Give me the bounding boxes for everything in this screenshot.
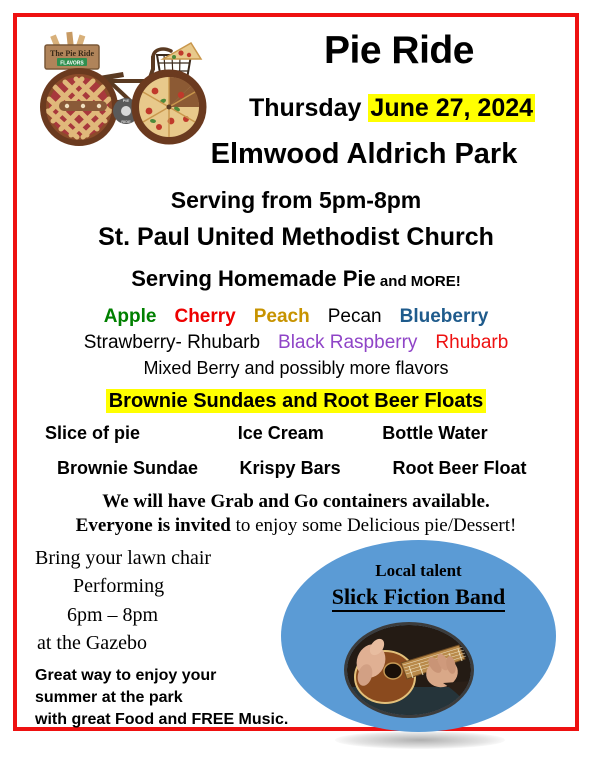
note-invite-bold: Everyone is invited — [76, 515, 231, 536]
menu-item-ice-cream: Ice Cream — [238, 424, 383, 442]
flavor-blueberry: Blueberry — [400, 306, 489, 327]
performance-venue: at the Gazebo — [31, 629, 281, 657]
menu-item-root-beer-float: Root Beer Float — [376, 459, 575, 477]
oval-drop-shadow — [335, 731, 505, 749]
serving-time: Serving from 5pm-8pm — [17, 189, 575, 212]
homemade-pie-line: Serving Homemade Pie and MORE! — [17, 268, 575, 290]
performing-label: Performing — [31, 572, 281, 600]
flavor-mixed-berry: Mixed Berry and possibly more flavors — [143, 358, 448, 378]
flavor-pecan: Pecan — [328, 306, 382, 327]
grab-and-go-notes: We will have Grab and Go containers avai… — [17, 490, 575, 538]
flavor-row-2: Strawberry- RhubarbBlack RaspberryRhubar… — [17, 333, 575, 352]
day-label: Thursday — [249, 94, 368, 122]
bicycle-pie-art: The Pie Ride FLAVORS — [31, 29, 231, 147]
event-date-line: Thursday June 27, 2024 — [213, 95, 571, 121]
menu-item-bottle-water: Bottle Water — [382, 424, 575, 442]
flavor-row-1: AppleCherryPeachPecanBlueberry — [17, 307, 575, 326]
highlighted-date: June 27, 2024 — [368, 94, 535, 122]
menu-row: Brownie Sundae Krispy Bars Root Beer Flo… — [17, 459, 575, 477]
flavor-peach: Peach — [254, 306, 310, 327]
homemade-main: Serving Homemade Pie — [131, 266, 376, 291]
menu-item-slice-of-pie: Slice of pie — [17, 424, 238, 442]
homemade-suffix: and MORE! — [376, 273, 461, 290]
flavor-strawberry-rhubarb: Strawberry- Rhubarb — [84, 332, 260, 353]
flyer-frame: The Pie Ride FLAVORS — [13, 13, 579, 731]
pie-flavors-list: AppleCherryPeachPecanBlueberry Strawberr… — [17, 307, 575, 377]
menu-items: Slice of pie Ice Cream Bottle Water Brow… — [17, 424, 575, 494]
flavor-black-raspberry: Black Raspberry — [278, 332, 417, 353]
flyer-title: Pie Ride — [227, 31, 571, 70]
closing-line-3: with great Food and FREE Music. — [35, 709, 355, 731]
flavor-row-3: Mixed Berry and possibly more flavors — [17, 359, 575, 377]
menu-item-krispy-bars: Krispy Bars — [240, 459, 377, 477]
sundae-banner-text: Brownie Sundaes and Root Beer Floats — [106, 389, 487, 413]
band-callout-oval: Local talent Slick Fiction Band — [281, 540, 556, 732]
sundae-banner: Brownie Sundaes and Root Beer Floats — [17, 391, 575, 411]
note-invite-rest: to enjoy some Delicious pie/Dessert! — [231, 515, 516, 536]
performance-info: Bring your lawn chair Performing 6pm – 8… — [31, 544, 281, 658]
svg-text:The Pie Ride: The Pie Ride — [50, 49, 94, 58]
svg-text:PIE: PIE — [123, 98, 130, 103]
organization-name: St. Paul United Methodist Church — [17, 225, 575, 250]
band-name: Slick Fiction Band — [281, 586, 556, 608]
bring-lawn-chair-line: Bring your lawn chair — [31, 544, 281, 572]
note-grab-and-go: We will have Grab and Go containers avai… — [17, 490, 575, 514]
local-talent-label: Local talent — [281, 562, 556, 579]
note-everyone-invited: Everyone is invited to enjoy some Delici… — [17, 514, 575, 538]
svg-text:FLAVORS: FLAVORS — [60, 61, 84, 67]
flavor-rhubarb: Rhubarb — [435, 332, 508, 353]
flavor-cherry: Cherry — [174, 306, 235, 327]
performance-time: 6pm – 8pm — [31, 601, 281, 629]
menu-item-brownie-sundae: Brownie Sundae — [17, 459, 240, 477]
flavor-apple: Apple — [104, 306, 157, 327]
svg-text:RIDE: RIDE — [121, 119, 131, 124]
guitar-photo — [344, 622, 474, 718]
event-location: Elmwood Aldrich Park — [157, 140, 571, 169]
menu-row: Slice of pie Ice Cream Bottle Water — [17, 424, 575, 442]
